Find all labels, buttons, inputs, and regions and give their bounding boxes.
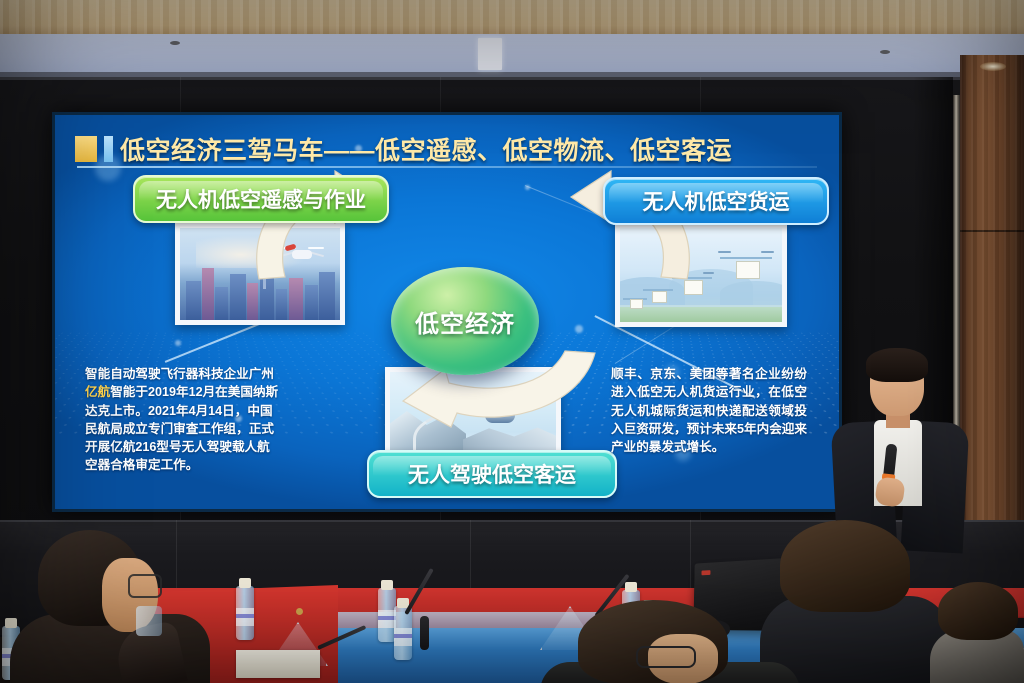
ceiling-vent [478,38,502,70]
badge-cargo-label: 无人机低空货运 [643,186,790,216]
center-node-low-altitude-economy: 低空经济 [391,267,539,375]
paragraph-left: 智能自动驾驶飞行器科技企业广州亿航智能于2019年12月在美国纳斯达克上市。20… [85,365,281,475]
ceiling-fixture-icon [880,50,890,54]
eyeglasses-icon [636,646,696,668]
badge-remote-sensing-label: 无人机低空遥感与作业 [156,184,366,214]
ceiling-light-band [0,34,1024,77]
projection-screen[interactable]: 低空经济三驾马车——低空遥感、低空物流、低空客运 [52,112,842,512]
presentation-slide: 低空经济三驾马车——低空遥感、低空物流、低空客运 [55,115,839,509]
title-underline [77,166,817,168]
audience-member-front-left [10,530,225,683]
paragraph-left-seg-1: 智能自动驾驶飞行器科技企业广州 [85,367,274,381]
paragraph-left-seg-3: 智能于2019年12月在美国纳斯达克上市。2021年4月14日，中国民航局成立专… [85,385,278,472]
document-paper[interactable] [236,650,320,678]
wall-top-highlight [0,77,1024,80]
ceiling-spotlight-icon [980,62,1006,71]
paragraph-right: 顺丰、京东、美团等著名企业纷纷进入低空无人机货运行业，在低空无人机城际货运和快递… [611,365,807,456]
title-marker-gold-icon [75,136,97,162]
title-marker-blue-icon [104,136,113,162]
paragraph-left-highlight: 亿航 [85,385,110,399]
drinking-cup [136,606,162,636]
audience-member-front-center [540,600,800,683]
eyeglasses-icon [128,574,162,598]
badge-remote-sensing[interactable]: 无人机低空遥感与作业 [133,175,389,223]
slide-title: 低空经济三驾马车——低空遥感、低空物流、低空客运 [120,131,732,167]
audience-member-far-right [930,582,1024,683]
badge-passenger-label: 无人驾驶低空客运 [408,459,576,489]
water-bottle[interactable] [394,606,412,660]
ceiling [0,0,1024,34]
screenshot-root: 低空经济三驾马车——低空遥感、低空物流、低空客运 [0,0,1024,683]
badge-passenger[interactable]: 无人驾驶低空客运 [367,450,617,498]
water-bottle[interactable] [236,586,254,640]
badge-cargo[interactable]: 无人机低空货运 [603,177,829,225]
center-node-label: 低空经济 [415,304,515,339]
speaker-hair [866,348,928,382]
slide-title-row: 低空经济三驾马车——低空遥感、低空物流、低空客运 [75,131,732,167]
microphone-base[interactable] [420,616,429,650]
mic-indicator-icon [296,608,303,615]
ceiling-fixture-icon [170,41,180,45]
